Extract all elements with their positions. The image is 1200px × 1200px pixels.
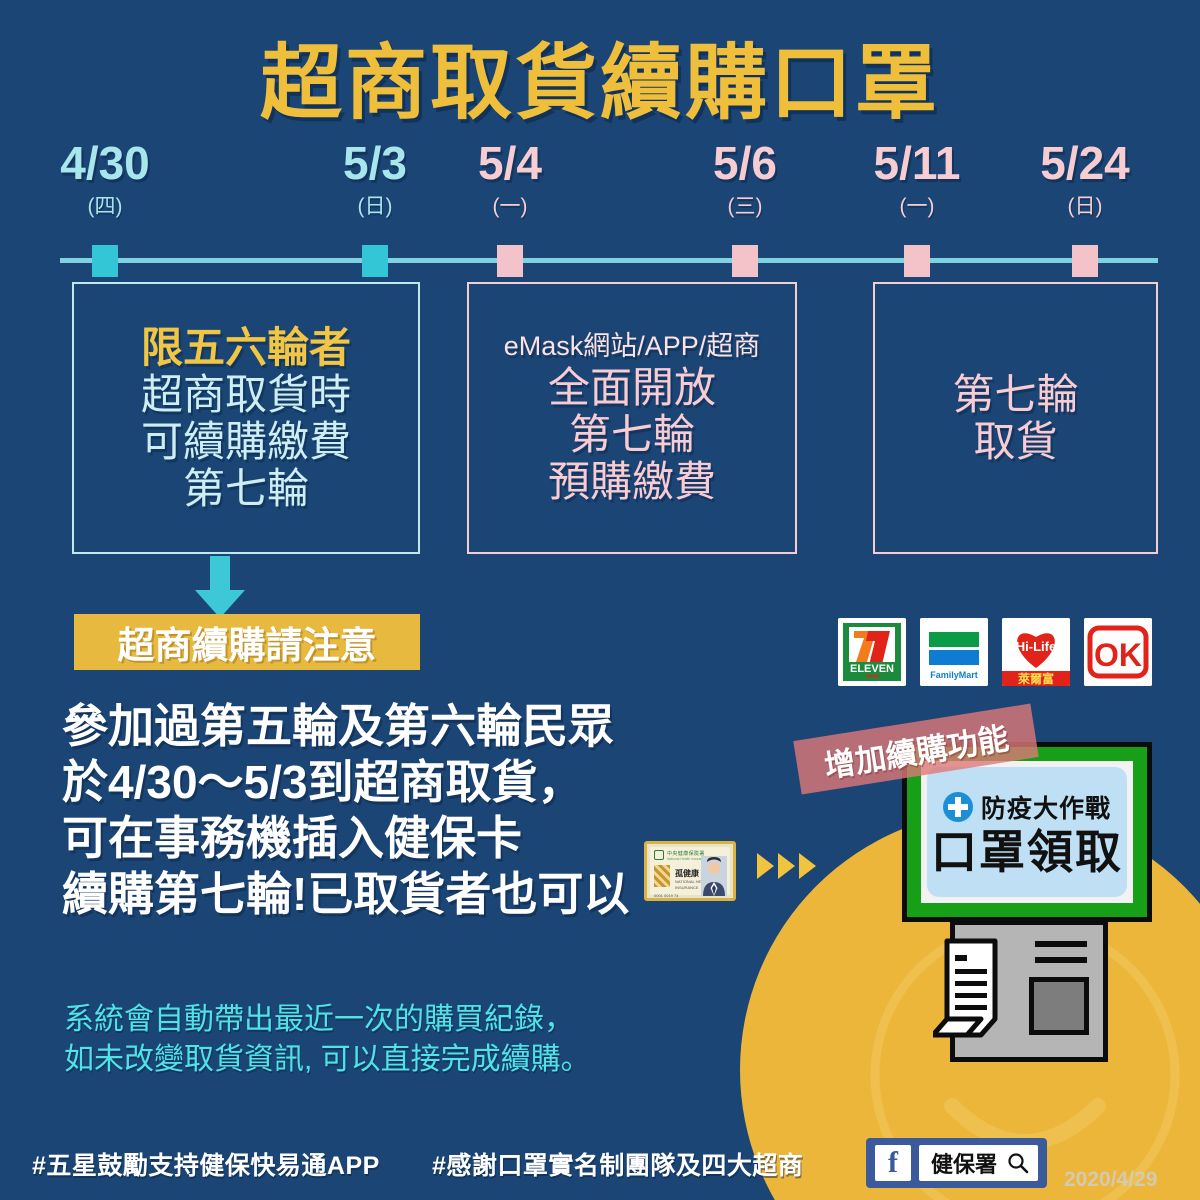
facebook-search-box[interactable]: 健保署	[919, 1145, 1038, 1181]
timeline-node-3: 5/4 (一)	[425, 140, 595, 217]
store-logo-hi-life: Hi-Life 萊爾富 Hi-Life 萊爾富	[1002, 618, 1070, 686]
panel-round-7-pickup: 第七輪 取貨	[873, 282, 1158, 554]
timeline-axis	[60, 258, 1158, 263]
kiosk-body	[950, 920, 1108, 1062]
timeline-weekday: (一)	[425, 196, 595, 217]
panel-line: 第七輪	[569, 411, 695, 458]
facebook-page-name: 健保署	[931, 1147, 997, 1179]
body-line: 於4/30～5/3到超商取貨，	[62, 754, 629, 810]
arrow-down-icon	[186, 556, 254, 620]
familymart-icon: FamilyMart	[920, 618, 988, 686]
health-card-name-en-2: INSURANCE	[675, 885, 699, 890]
svg-text:FamilyMart: FamilyMart	[930, 670, 978, 680]
arrow-right-icon	[757, 853, 774, 879]
body-subline: 如未改變取貨資訊, 可以直接完成續購。	[64, 1040, 591, 1080]
body-line: 可在事務機插入健保卡	[62, 810, 629, 866]
health-card-face: 中央健康保險署 National Health Insurance 孤健康 NA…	[650, 847, 730, 895]
hashtag-app: #五星鼓勵支持健保快易通APP	[32, 1146, 380, 1182]
panel-line: 第七輪	[183, 465, 309, 512]
kiosk-slot-line-2	[1035, 957, 1087, 963]
timeline-date: 5/11	[832, 140, 1002, 186]
body-line: 續購第七輪!已取貨者也可以	[62, 866, 629, 922]
health-card-name: 孤健康	[675, 868, 699, 879]
facebook-icon[interactable]: f	[875, 1145, 911, 1181]
timeline: 4/30 (四) 5/3 (日) 5/4 (一) 5/6 (三) 5/11 (一…	[0, 140, 1200, 270]
timeline-node-4: 5/6 (三)	[660, 140, 830, 217]
search-icon[interactable]	[1007, 1152, 1029, 1174]
kiosk-headline-row: 防疫大作戰	[943, 789, 1111, 825]
arrow-right-icon	[799, 853, 816, 879]
receipt-icon	[933, 937, 1019, 1043]
timeline-tick	[904, 245, 930, 277]
timeline-date: 5/4	[425, 140, 595, 186]
kiosk-headline: 防疫大作戰	[981, 789, 1111, 825]
kiosk-card-reader[interactable]	[1029, 977, 1089, 1035]
timeline-node-6: 5/24 (日)	[1000, 140, 1170, 217]
panel-line: 全面開放	[548, 364, 716, 411]
store-logo-7-eleven: ELEVEN ELEVEN	[838, 618, 906, 686]
date-stamp: 2020/4/29	[1064, 1168, 1157, 1192]
store-logo-familymart: FamilyMart FamilyMart	[920, 618, 988, 686]
panel-round-7-presale: eMask網站/APP/超商 全面開放 第七輪 預購繳費	[467, 282, 797, 554]
svg-text:OK: OK	[1094, 637, 1142, 673]
svg-text:萊爾富: 萊爾富	[1017, 671, 1054, 686]
health-insurance-card: 中央健康保險署 National Health Insurance 孤健康 NA…	[644, 841, 736, 901]
seven-eleven-icon: ELEVEN	[838, 618, 906, 686]
kiosk-main-label[interactable]: 口罩領取	[931, 829, 1123, 875]
panel-limited-round-5-6: 限五六輪者 超商取貨時 可續購繳費 第七輪	[72, 282, 420, 554]
medical-cross-icon	[943, 792, 973, 822]
kiosk-illustration: 防疫大作戰 口罩領取	[902, 742, 1162, 1072]
store-logo-row: ELEVEN ELEVEN FamilyMart FamilyMart Hi-L…	[838, 618, 1152, 686]
arrow-right-icon	[778, 853, 795, 879]
health-card-issuer: 中央健康保險署	[667, 850, 705, 857]
timeline-node-5: 5/11 (一)	[832, 140, 1002, 217]
health-card-number: 0001 0019 74	[654, 893, 678, 898]
health-card-photo	[701, 856, 727, 896]
panel-line: 限五六輪者	[141, 324, 351, 371]
timeline-weekday: (三)	[660, 196, 830, 217]
svg-text:ELEVEN: ELEVEN	[850, 663, 894, 675]
body-subline: 系統會自動帶出最近一次的購買紀錄，	[64, 1000, 591, 1040]
timeline-tick	[92, 245, 118, 277]
panel-line: 可續購繳費	[141, 418, 351, 465]
body-subcopy: 系統會自動帶出最近一次的購買紀錄， 如未改變取貨資訊, 可以直接完成續購。	[64, 1000, 591, 1079]
hashtag-thanks: #感謝口罩實名制團隊及四大超商	[432, 1146, 803, 1182]
panel-line: 第七輪	[952, 371, 1078, 418]
svg-text:Hi-Life: Hi-Life	[1016, 639, 1056, 654]
kiosk-display: 防疫大作戰 口罩領取	[927, 767, 1127, 897]
panel-line: 預購繳費	[548, 458, 716, 505]
panel-line: eMask網站/APP/超商	[504, 331, 761, 361]
timeline-tick	[732, 245, 758, 277]
timeline-node-1: 4/30 (四)	[20, 140, 190, 217]
body-line: 參加過第五輪及第六輪民眾	[62, 698, 629, 754]
infographic-root: 超商取貨續購口罩 4/30 (四) 5/3 (日) 5/4 (一) 5/6 (三…	[0, 0, 1200, 1200]
nhi-logo-icon	[654, 850, 664, 860]
timeline-date: 5/6	[660, 140, 830, 186]
kiosk-slot-line-1	[1035, 941, 1087, 947]
panel-line: 超商取貨時	[141, 371, 351, 418]
timeline-tick	[497, 245, 523, 277]
body-copy: 參加過第五輪及第六輪民眾 於4/30～5/3到超商取貨， 可在事務機插入健保卡 …	[62, 698, 629, 922]
page-title: 超商取貨續購口罩	[0, 16, 1200, 135]
ok-mart-icon: OK	[1084, 618, 1152, 686]
health-card-stripe	[654, 865, 670, 887]
timeline-tick	[1072, 245, 1098, 277]
facebook-search-widget[interactable]: f 健保署	[866, 1138, 1047, 1188]
triple-arrow-icon	[757, 853, 816, 879]
hi-life-icon: Hi-Life 萊爾富	[1002, 618, 1070, 686]
panel-line: 取貨	[973, 418, 1057, 465]
timeline-weekday: (四)	[20, 196, 190, 217]
timeline-date: 4/30	[20, 140, 190, 186]
kiosk-screen-inner: 防疫大作戰 口罩領取	[921, 761, 1133, 903]
notice-badge: 超商續購請注意	[74, 614, 420, 670]
timeline-date: 5/24	[1000, 140, 1170, 186]
store-logo-ok-mart: OK OK	[1084, 618, 1152, 686]
timeline-weekday: (日)	[1000, 196, 1170, 217]
timeline-weekday: (一)	[832, 196, 1002, 217]
timeline-tick	[362, 245, 388, 277]
